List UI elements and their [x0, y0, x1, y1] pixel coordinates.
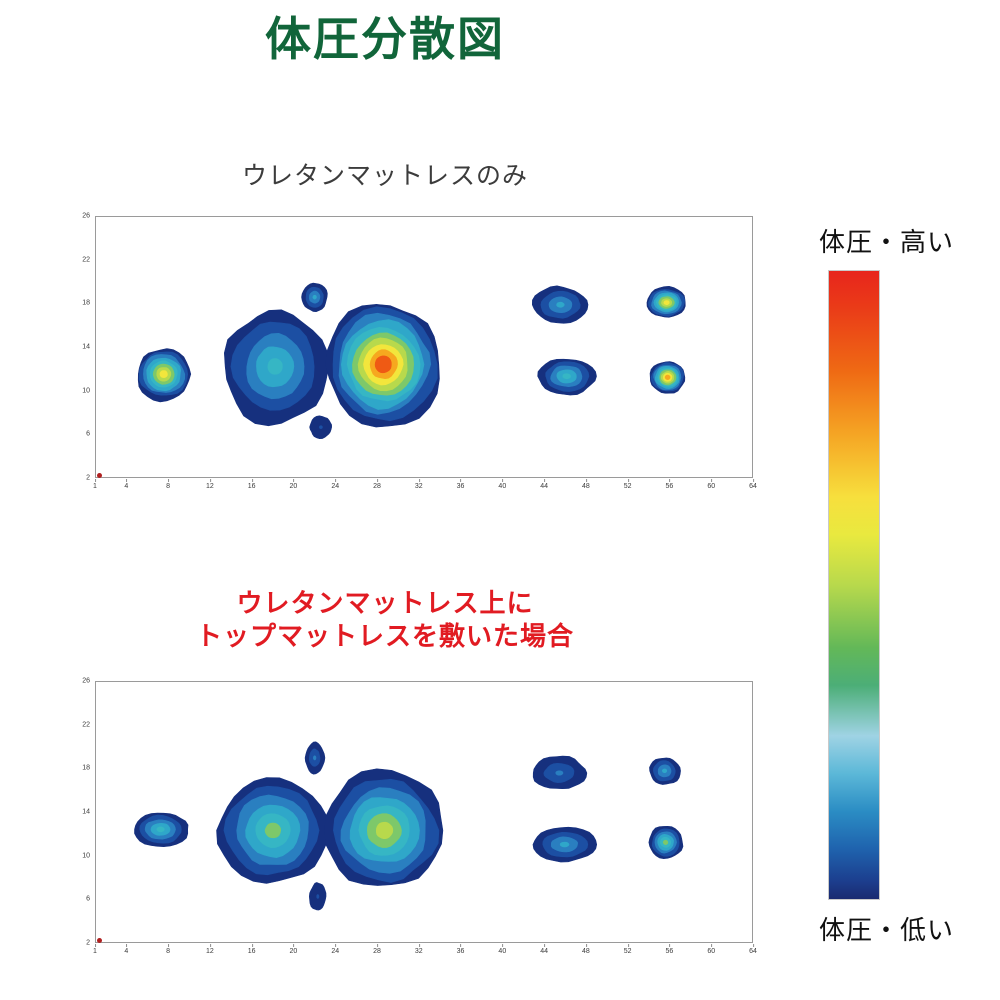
x-axis-top: 1481216202428323640444852566064 — [95, 483, 753, 499]
y-tick-label: 26 — [82, 213, 90, 220]
contour-region-upper-small-spot — [305, 742, 325, 774]
contour-region-right-heel — [649, 826, 683, 858]
contour-region-left-heel — [649, 758, 680, 785]
x-tick-label: 20 — [290, 948, 298, 955]
x-tick-label: 52 — [624, 948, 632, 955]
contour-level-3 — [557, 302, 565, 307]
y-axis-top: 261014182226 — [71, 216, 93, 478]
y-tick-label: 6 — [86, 431, 90, 438]
contour-region-right-calf — [538, 359, 597, 395]
caption-urethane-plus-top: ウレタンマットレス上に トップマットレスを敷いた場合 — [0, 587, 770, 654]
contour-level-8 — [665, 375, 670, 380]
x-tick-label: 44 — [540, 483, 548, 490]
contour-level-4 — [157, 827, 164, 832]
x-tick-label: 12 — [206, 948, 214, 955]
y-tick-label: 10 — [82, 852, 90, 859]
caption-line-1: ウレタンマットレス上に — [236, 588, 533, 618]
y-tick-label: 6 — [86, 896, 90, 903]
contour-level-1 — [319, 426, 322, 429]
contour-region-right-calf — [533, 827, 597, 862]
contour-level-2 — [313, 756, 316, 760]
y-tick-label: 2 — [86, 475, 90, 482]
contour-level-5 — [663, 840, 668, 845]
x-tick-label: 36 — [457, 948, 465, 955]
contour-region-sacrum-hip — [324, 769, 443, 886]
x-tick-label: 1 — [93, 948, 97, 955]
contour-level-7 — [160, 371, 167, 378]
contour-region-sacrum-hip — [325, 304, 439, 427]
x-tick-label: 4 — [124, 948, 128, 955]
contour-level-3 — [313, 295, 317, 299]
x-tick-label: 56 — [666, 483, 674, 490]
x-tick-label: 28 — [373, 483, 381, 490]
heatmap-canvas-top — [96, 217, 752, 477]
colorbar-gradient — [828, 270, 880, 900]
colorbar-label-high: 体圧・高い — [773, 222, 1000, 259]
contour-level-5 — [265, 823, 281, 838]
y-tick-label: 26 — [82, 678, 90, 685]
contour-level-4 — [563, 374, 571, 379]
contour-level-3 — [662, 769, 666, 773]
x-tick-label: 16 — [248, 948, 256, 955]
plot-frame-top — [95, 216, 753, 478]
contour-level-2 — [556, 771, 563, 775]
x-tick-label: 8 — [166, 948, 170, 955]
y-tick-label: 10 — [82, 387, 90, 394]
x-tick-label: 16 — [248, 483, 256, 490]
colorbar-label-low: 体圧・低い — [773, 910, 1000, 947]
x-tick-label: 1 — [93, 483, 97, 490]
contour-level-7 — [664, 300, 669, 304]
y-tick-label: 14 — [82, 809, 90, 816]
y-tick-label: 14 — [82, 344, 90, 351]
x-tick-label: 40 — [498, 948, 506, 955]
contour-region-left-arm — [134, 813, 188, 847]
x-tick-label: 60 — [707, 483, 715, 490]
x-tick-label: 64 — [749, 483, 757, 490]
contour-region-left-calf — [532, 286, 588, 324]
contour-region-upper-small-spot — [302, 283, 328, 312]
x-tick-label: 28 — [373, 948, 381, 955]
contour-level-3 — [560, 842, 569, 847]
x-tick-label: 52 — [624, 483, 632, 490]
x-tick-label: 48 — [582, 948, 590, 955]
x-tick-label: 20 — [290, 483, 298, 490]
contour-level-4 — [268, 358, 283, 374]
page-title: 体圧分散図 — [0, 14, 770, 65]
contour-region-shoulder-torso — [224, 310, 329, 426]
y-tick-label: 22 — [82, 256, 90, 263]
x-tick-label: 32 — [415, 948, 423, 955]
y-tick-label: 22 — [82, 721, 90, 728]
caption-urethane-only: ウレタンマットレスのみ — [0, 160, 770, 192]
y-tick-label: 18 — [82, 765, 90, 772]
x-tick-label: 4 — [124, 483, 128, 490]
x-tick-label: 24 — [331, 948, 339, 955]
origin-marker-bottom — [97, 938, 102, 943]
y-tick-label: 2 — [86, 940, 90, 947]
contour-region-shoulder-torso — [217, 778, 331, 884]
pressure-colorbar: 体圧・高い 体圧・低い — [773, 210, 1000, 950]
x-tick-label: 40 — [498, 483, 506, 490]
y-axis-bottom: 261014182226 — [71, 681, 93, 943]
contour-region-left-arm — [138, 348, 191, 401]
page-root: 体圧分散図 ウレタンマットレスのみ 261014182226 148121620… — [0, 0, 1000, 1000]
x-tick-label: 32 — [415, 483, 423, 490]
contour-region-lower-small-spot — [310, 416, 332, 439]
contour-region-left-heel — [647, 286, 685, 317]
contour-level-1 — [317, 895, 319, 899]
contour-region-lower-small-spot — [309, 882, 326, 910]
x-tick-label: 24 — [331, 483, 339, 490]
x-tick-label: 12 — [206, 483, 214, 490]
x-tick-label: 64 — [749, 948, 757, 955]
x-tick-label: 48 — [582, 483, 590, 490]
contour-region-right-heel — [650, 362, 685, 394]
origin-marker-top — [97, 473, 102, 478]
x-tick-label: 44 — [540, 948, 548, 955]
x-tick-label: 60 — [707, 948, 715, 955]
y-tick-label: 18 — [82, 300, 90, 307]
contour-region-left-calf — [533, 756, 587, 789]
x-axis-bottom: 1481216202428323640444852566064 — [95, 948, 753, 964]
plot-frame-bottom — [95, 681, 753, 943]
caption-line-2: トップマットレスを敷いた場合 — [0, 620, 770, 653]
contour-level-9 — [375, 356, 391, 373]
heatmap-canvas-bottom — [96, 682, 752, 942]
contour-level-6 — [376, 822, 393, 839]
x-tick-label: 36 — [457, 483, 465, 490]
x-tick-label: 56 — [666, 948, 674, 955]
x-tick-label: 8 — [166, 483, 170, 490]
